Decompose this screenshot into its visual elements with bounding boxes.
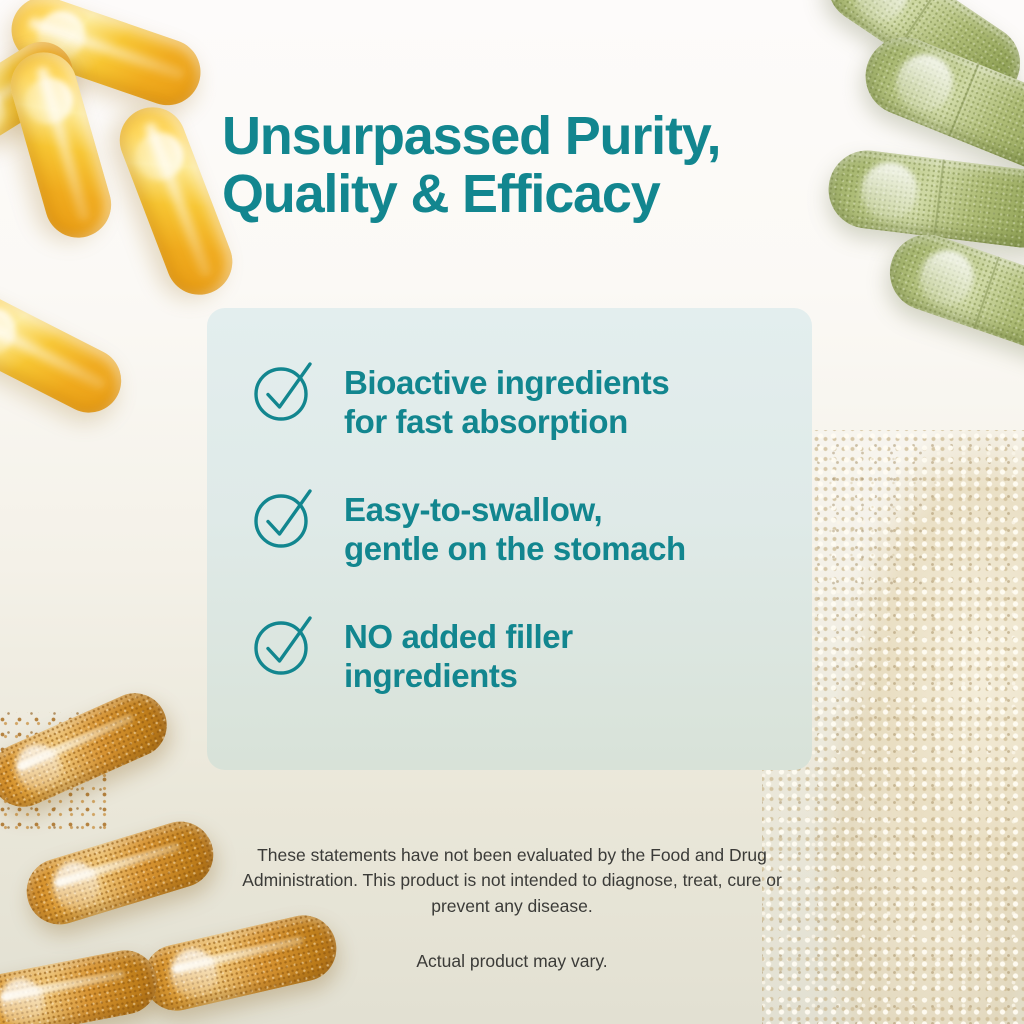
feature-line-1: Easy-to-swallow, xyxy=(344,491,602,528)
feature-item: NO added filler ingredients xyxy=(248,612,792,695)
feature-line-2: gentle on the stomach xyxy=(344,530,686,567)
check-circle-icon xyxy=(248,608,320,680)
headline-line-2: Quality & Efficacy xyxy=(222,165,822,223)
feature-text: NO added filler ingredients xyxy=(344,612,573,695)
promo-graphic: Unsurpassed Purity, Quality & Efficacy B… xyxy=(0,0,1024,1024)
feature-line-2: for fast absorption xyxy=(344,403,628,440)
feature-item: Bioactive ingredients for fast absorptio… xyxy=(248,358,792,441)
fda-disclaimer-text: These statements have not been evaluated… xyxy=(242,845,782,916)
feature-line-1: Bioactive ingredients xyxy=(344,364,669,401)
feature-text: Easy-to-swallow, gentle on the stomach xyxy=(344,485,686,568)
features-card: Bioactive ingredients for fast absorptio… xyxy=(207,308,812,770)
headline-line-1: Unsurpassed Purity, xyxy=(222,106,720,166)
feature-list: Bioactive ingredients for fast absorptio… xyxy=(248,358,792,696)
check-circle-icon xyxy=(248,481,320,553)
feature-text: Bioactive ingredients for fast absorptio… xyxy=(344,358,669,441)
page-title: Unsurpassed Purity, Quality & Efficacy xyxy=(222,107,822,224)
feature-line-2: ingredients xyxy=(344,657,517,694)
disclaimer: These statements have not been evaluated… xyxy=(226,843,798,975)
feature-item: Easy-to-swallow, gentle on the stomach xyxy=(248,485,792,568)
product-variation-note: Actual product may vary. xyxy=(226,949,798,974)
check-circle-icon xyxy=(248,354,320,426)
feature-line-1: NO added filler xyxy=(344,618,573,655)
